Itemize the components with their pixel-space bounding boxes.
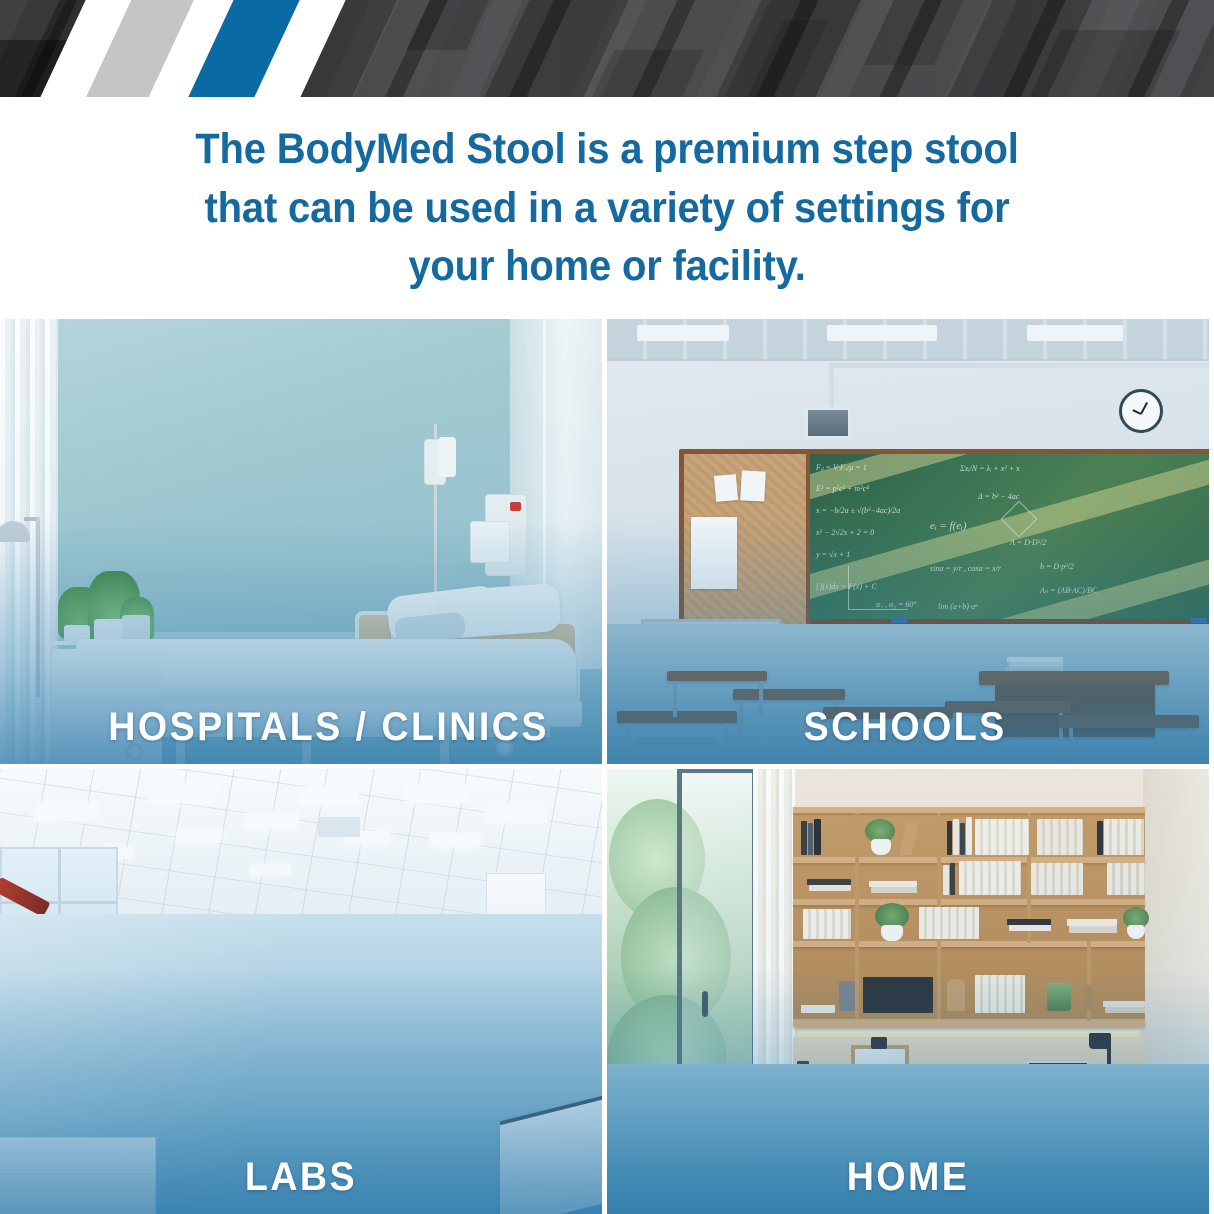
lab-ceiling-light xyxy=(405,785,469,803)
teacher-desk xyxy=(979,671,1169,685)
shelf-book xyxy=(947,821,952,855)
scene-caption-home: HOME xyxy=(625,1155,1191,1200)
scene-caption-schools: SCHOOLS xyxy=(625,705,1191,750)
shelf-book xyxy=(1097,821,1103,855)
shelf-book xyxy=(966,817,972,855)
shelf-board xyxy=(793,899,1145,905)
shelf-plant-pot xyxy=(881,925,903,941)
shelf-book-stack xyxy=(871,887,917,893)
lab-ceiling-light xyxy=(148,783,218,803)
wall-clock-icon xyxy=(1119,389,1163,433)
header-banner xyxy=(0,0,1214,97)
shelf-book xyxy=(1107,863,1145,895)
chalk-equation: Aₕ = (AB·AC)/BC xyxy=(1040,586,1097,595)
classroom-illustration: Fᵢⱼ = V·Fₐ/μ = 1 E² = p²c² + m²c⁴ x = −b… xyxy=(607,319,1209,764)
chalk-equation: Fᵢⱼ = V·Fₐ/μ = 1 xyxy=(816,463,867,472)
shelf-succulent xyxy=(1047,983,1071,1011)
student-desk xyxy=(733,689,845,700)
shelf-book xyxy=(1037,819,1083,855)
shelf-divider xyxy=(855,813,859,1019)
conduit-pipe-vertical xyxy=(829,363,834,407)
bedside-control-unit xyxy=(470,521,510,563)
pinned-note-2 xyxy=(740,470,766,501)
promo-graphic: The BodyMed Stool is a premium step stoo… xyxy=(0,0,1214,1214)
scene-hospitals-clinics: HOSPITALS / CLINICS xyxy=(0,319,602,764)
wall-speaker-icon xyxy=(805,407,851,439)
scene-schools: Fᵢⱼ = V·Fₐ/μ = 1 E² = p²c² + m²c⁴ x = −b… xyxy=(607,319,1209,764)
chalk-equation: y = √x + 1 xyxy=(816,550,850,559)
shelf-book xyxy=(950,863,955,895)
shelf-book xyxy=(814,819,821,855)
chalk-equation: Σxᵢ/N = λᵢ + x² + x xyxy=(960,464,1020,473)
door-frame-top xyxy=(677,769,757,773)
laboratory-illustration xyxy=(0,769,602,1214)
scene-labs: LABS xyxy=(0,769,602,1214)
home-office-illustration xyxy=(607,769,1209,1214)
shelf-book xyxy=(803,909,851,939)
shelf-board xyxy=(793,941,1145,947)
pinned-blueprint xyxy=(691,517,737,589)
shelf-book xyxy=(808,823,813,855)
shelf-plant-pot xyxy=(871,839,891,855)
page-title: The BodyMed Stool is a premium step stoo… xyxy=(184,120,1030,297)
door-handle[interactable] xyxy=(702,991,708,1017)
shelf-book xyxy=(801,821,807,855)
shelf-book-stack xyxy=(1069,926,1117,933)
lab-ceiling-vent xyxy=(318,817,360,837)
shelf-book-stack xyxy=(1067,919,1117,926)
pinned-note-1 xyxy=(714,474,738,502)
floor-lamp-pole xyxy=(36,517,40,697)
emergency-call-button-icon xyxy=(510,502,521,511)
shelf-book xyxy=(975,975,1025,1013)
lab-ceiling-light xyxy=(299,787,359,805)
desk-clip-icon xyxy=(871,1037,887,1049)
shelf-book xyxy=(960,823,965,855)
scene-grid: HOSPITALS / CLINICS xyxy=(0,319,1214,1214)
headline-line-3: your home or facility. xyxy=(184,237,1030,296)
chalk-equation: x² − 2√2x + 2 = 0 xyxy=(816,528,874,537)
lab-ceiling-light xyxy=(33,803,98,821)
shelf-book xyxy=(1104,819,1144,855)
headline-line-1: The BodyMed Stool is a premium step stoo… xyxy=(184,120,1030,179)
chalkboard-graph-sketch xyxy=(848,566,908,610)
shelf-book-stack xyxy=(1009,925,1051,931)
headline-section: The BodyMed Stool is a premium step stoo… xyxy=(0,97,1214,319)
shelf-book xyxy=(959,861,1021,895)
chalk-marker-2 xyxy=(1191,618,1207,623)
scene-caption-labs: LABS xyxy=(18,1155,584,1200)
shelf-book xyxy=(975,819,1029,855)
scene-caption-hospitals: HOSPITALS / CLINICS xyxy=(18,705,584,750)
chalkboard: Fᵢⱼ = V·Fₐ/μ = 1 E² = p²c² + m²c⁴ x = −b… xyxy=(810,454,1209,624)
student-desk xyxy=(667,671,767,681)
lab-ceiling-light xyxy=(243,813,299,829)
chalk-equation: A = D·D²/2 xyxy=(1010,538,1046,547)
chalk-equation: lim (a+b)·aⁿ xyxy=(938,602,977,611)
shelf-board xyxy=(793,1019,1145,1027)
ceiling-light-1 xyxy=(637,325,729,341)
shelf-board xyxy=(793,807,1145,813)
lab-ceiling-light xyxy=(484,805,548,823)
chalk-equation: h = D·p²/2 xyxy=(1040,562,1074,571)
shelf-book-stack xyxy=(1105,1007,1145,1013)
shelf-object xyxy=(801,1005,835,1013)
iv-pump-unit-secondary xyxy=(438,437,456,477)
shelf-book-stack xyxy=(809,885,851,891)
chalk-marker-1 xyxy=(891,618,907,623)
headline-line-2: that can be used in a variety of setting… xyxy=(184,179,1030,238)
shelf-book xyxy=(943,865,949,895)
conduit-pipe-horizontal xyxy=(829,363,1209,368)
shelf-object-lamp xyxy=(839,981,855,1011)
chalk-equation: x = −b/2a ± √(b²−4ac)/2a xyxy=(816,506,900,515)
scene-home: HOME xyxy=(607,769,1209,1214)
chalk-equation: eᵢ = f(eᵢ) xyxy=(930,520,967,532)
shelf-magazine-file xyxy=(863,977,933,1013)
hospital-room-illustration xyxy=(0,319,602,764)
lab-ceiling-light xyxy=(175,829,224,843)
shelf-figurine-icon xyxy=(947,979,965,1011)
ceiling-light-2 xyxy=(827,325,937,341)
chalk-equation: sinα = y/r , cosα = x/r xyxy=(930,564,1001,573)
ceiling-light-3 xyxy=(1027,325,1123,341)
lab-ceiling-light xyxy=(429,833,481,847)
lab-ceiling-light xyxy=(250,865,290,876)
shelf-book xyxy=(1031,863,1083,895)
chalk-equation: E² = p²c² + m²c⁴ xyxy=(816,484,869,493)
shelf-book xyxy=(1085,985,1093,1011)
chalk-equation: Δ = b² − 4ac xyxy=(978,492,1019,501)
shelf-book xyxy=(953,819,959,855)
shelf-book xyxy=(919,907,979,939)
